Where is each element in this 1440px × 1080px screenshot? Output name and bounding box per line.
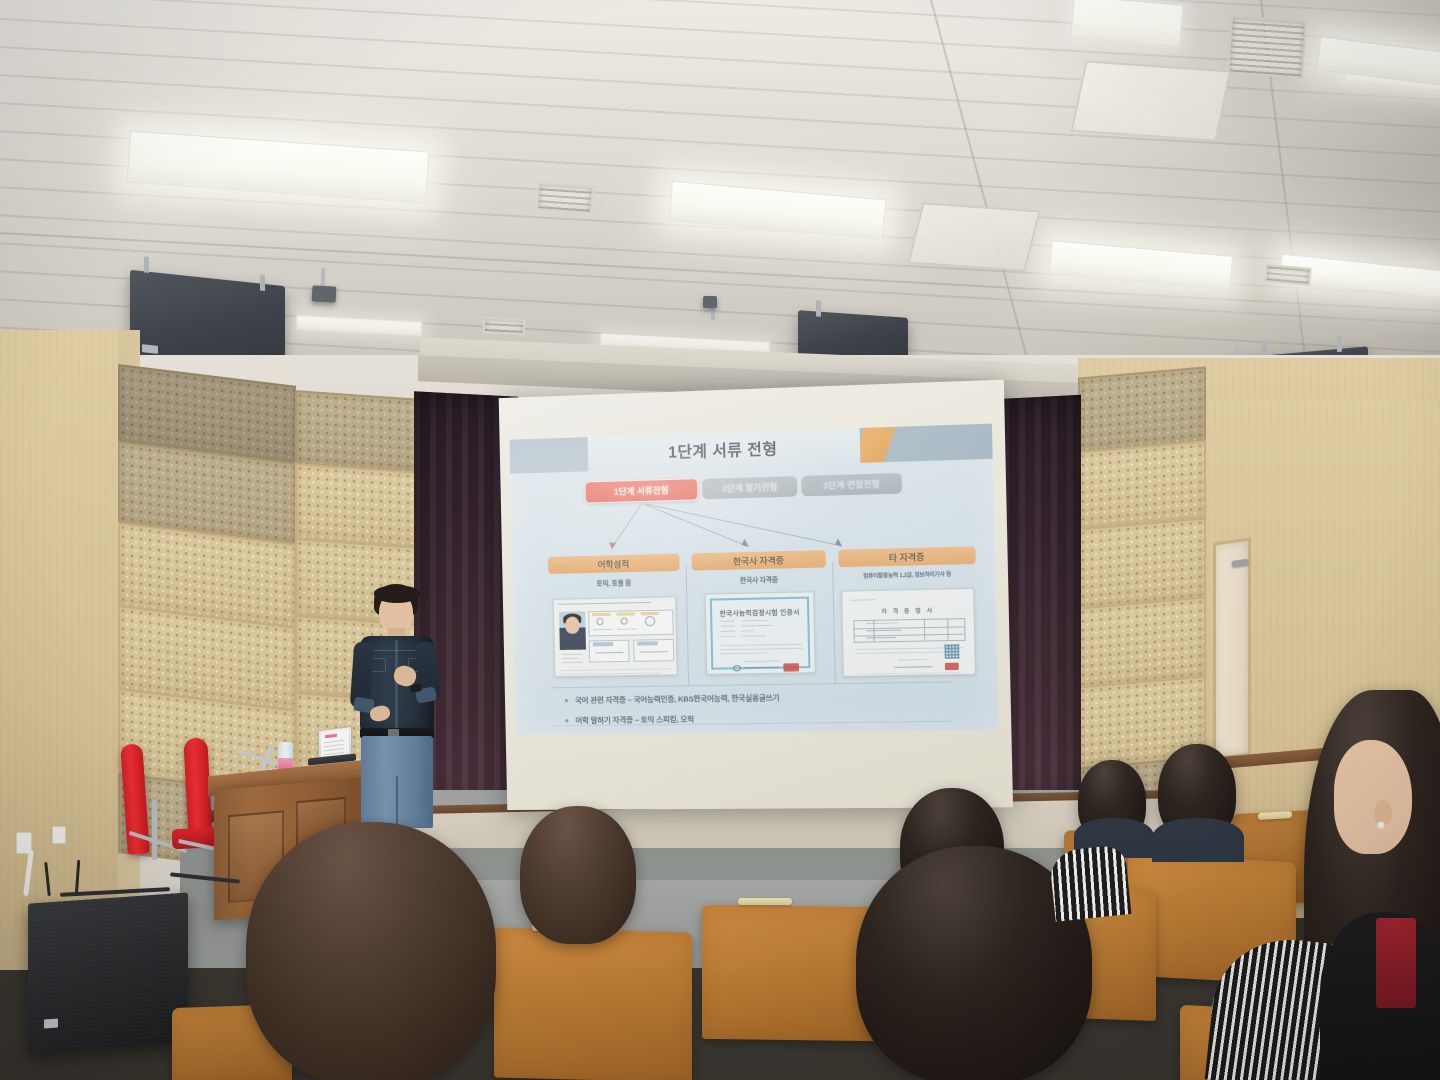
score-header-strip xyxy=(641,612,659,615)
photo-face xyxy=(565,617,580,634)
column-subtitle: 한국사 자격증 xyxy=(692,573,826,586)
ceiling-sensor xyxy=(703,296,717,308)
column-divider xyxy=(832,562,836,683)
column-subtitle: 토익, 토플 등 xyxy=(548,576,680,589)
bullet-text: 국어 관련 자격증 – 국어능력인증, KBS한국어능력, 한국실용글쓰기 xyxy=(575,692,780,706)
official-seal-icon xyxy=(783,663,799,671)
doc-line xyxy=(558,602,651,605)
korean-history-certificate: 한국사능력검정시험 인증서 xyxy=(705,591,816,675)
score-box-label xyxy=(593,642,613,646)
tab-stage-2[interactable]: 2단계 필기전형 xyxy=(702,476,797,499)
hvac-vent xyxy=(536,182,594,214)
speaker-mount xyxy=(1337,336,1342,352)
qr-code-icon xyxy=(944,644,959,659)
ceiling-access-panel xyxy=(908,202,1041,271)
exit-door[interactable] xyxy=(1213,537,1251,760)
column-language-score: 어학성적 토익, 토플 등 xyxy=(548,554,682,683)
stage-tabs: 1단계 서류전형 2단계 필기전형 3단계 면접전형 xyxy=(584,472,914,504)
acoustic-panel xyxy=(1078,440,1206,529)
audience-face-profile xyxy=(1334,740,1412,854)
column-header: 한국사 자격증 xyxy=(691,550,826,571)
column-subtitle: 컴퓨터활용능력 1,2급, 정보처리기사 등 xyxy=(839,569,976,580)
doc-line xyxy=(856,652,947,655)
tab-stage-1[interactable]: 1단계 서류전형 xyxy=(584,478,698,504)
bullet-dot-icon xyxy=(565,699,568,702)
earring-icon xyxy=(1378,822,1384,828)
speaker-mount xyxy=(816,300,821,316)
acoustic-panel xyxy=(1078,366,1206,453)
audience-head xyxy=(246,822,496,1080)
column-header: 어학성적 xyxy=(548,554,680,574)
score-gauge-icon xyxy=(596,618,603,625)
jbl-logo-icon xyxy=(142,344,158,354)
table-col xyxy=(947,619,949,640)
jbl-logo-icon xyxy=(44,1018,58,1028)
seat-fabric-side xyxy=(1376,918,1416,1008)
acoustic-panel xyxy=(1078,517,1206,608)
doc-line xyxy=(721,626,735,628)
doc-line xyxy=(721,620,735,622)
jeans-leg-split xyxy=(396,776,398,828)
doc-line xyxy=(560,673,661,676)
doc-date-line xyxy=(898,659,928,661)
tab-stage-3[interactable]: 3단계 면접전형 xyxy=(801,473,902,496)
certificate-title: 한국사능력검정시험 인증서 xyxy=(706,606,814,618)
audience-head xyxy=(520,806,636,944)
ceiling-access-panel xyxy=(1071,60,1232,141)
audience-striped-jacket xyxy=(1049,844,1132,922)
seat[interactable] xyxy=(494,927,692,1080)
issuer-name xyxy=(894,666,932,668)
score-header-strip xyxy=(592,613,610,616)
official-seal-icon xyxy=(945,663,959,670)
hvac-vent xyxy=(483,317,526,335)
acoustic-panel xyxy=(1078,596,1206,687)
laptop-content-accent xyxy=(325,734,337,738)
section-rule xyxy=(551,681,953,688)
score-box-label xyxy=(637,641,657,645)
doc-line xyxy=(857,672,963,675)
seat-writing-tablet[interactable] xyxy=(738,898,792,905)
speaker-mount xyxy=(260,275,265,292)
toeic-score-report xyxy=(553,596,678,677)
doc-line xyxy=(562,662,582,664)
column-divider xyxy=(686,566,690,686)
bullet-list: 국어 관련 자격증 – 국어능력인증, KBS한국어능력, 한국실용글쓰기 어학… xyxy=(565,690,958,735)
ceiling xyxy=(0,0,1440,400)
floor-subwoofer xyxy=(28,892,188,1053)
score-gauge-icon xyxy=(621,618,628,625)
speaker-mount xyxy=(144,256,149,273)
institution-emblem-icon xyxy=(733,665,741,671)
score-gauge-icon xyxy=(645,616,655,626)
table-col xyxy=(924,620,926,641)
door-handle-icon[interactable] xyxy=(1232,559,1248,567)
column-other-certificates: 타 자격증 컴퓨터활용능력 1,2급, 정보처리기사 등 자 격 증 명 서 xyxy=(838,546,978,678)
projector xyxy=(312,285,337,302)
audience-shoulders xyxy=(1152,818,1244,862)
id-photo xyxy=(559,611,586,650)
doc-line xyxy=(562,658,578,660)
certificate-heading: 자 격 증 명 서 xyxy=(843,605,974,616)
presenter xyxy=(340,580,460,825)
column-header: 타 자격증 xyxy=(838,546,976,567)
presentation-slide: 1단계 서류 전형 1단계 서류전형 2단계 필기전형 3단계 면접전형 어학성… xyxy=(510,424,999,735)
slide-title: 1단계 서류 전형 xyxy=(668,437,778,463)
bullet-dot-icon xyxy=(565,719,568,722)
wall-outlet xyxy=(52,826,66,844)
chair-leg xyxy=(152,800,157,860)
doc-line xyxy=(741,630,753,632)
presenter-hair-top xyxy=(374,586,420,603)
seat[interactable] xyxy=(702,905,878,1041)
it-certificate: 자 격 증 명 서 xyxy=(841,588,976,677)
doc-line xyxy=(721,631,735,633)
list-item: 국어 관련 자격증 – 국어능력인증, KBS한국어능력, 한국실용글쓰기 xyxy=(565,690,958,707)
doc-line xyxy=(562,654,582,656)
doc-line xyxy=(851,599,876,601)
column-korean-history: 한국사 자격증 한국사 자격증 한국사능력검정시험 인증서 xyxy=(691,550,828,680)
score-header-strip xyxy=(616,612,634,615)
auditorium-scene: 1단계 서류 전형 1단계 서류전형 2단계 필기전형 3단계 면접전형 어학성… xyxy=(0,0,1440,1080)
doc-line xyxy=(560,668,671,671)
hvac-vent xyxy=(1227,15,1307,78)
doc-line xyxy=(721,636,735,638)
projection-screen: 1단계 서류 전형 1단계 서류전형 2단계 필기전형 3단계 면접전형 어학성… xyxy=(499,380,1013,810)
